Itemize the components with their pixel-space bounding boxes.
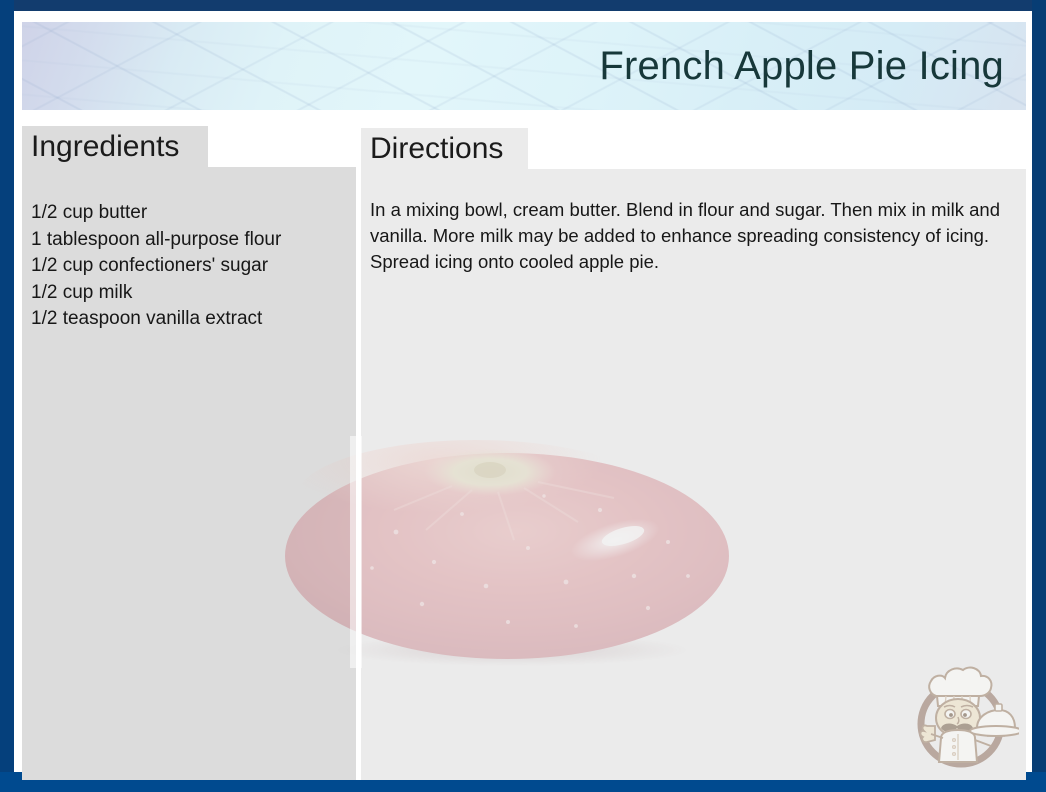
- slide-border-left: [0, 0, 14, 792]
- ingredients-heading: Ingredients: [31, 132, 179, 162]
- title-banner: French Apple Pie Icing: [22, 22, 1026, 110]
- ingredients-header: Ingredients: [22, 126, 208, 167]
- list-item: 1/2 cup confectioners' sugar: [31, 253, 356, 280]
- slide-border-right: [1032, 0, 1046, 792]
- ingredients-panel: Ingredients 1/2 cup butter 1 tablespoon …: [22, 126, 356, 780]
- list-item: 1/2 cup butter: [31, 200, 356, 227]
- directions-head-notch: [528, 128, 1026, 169]
- list-item: 1 tablespoon all-purpose flour: [31, 227, 356, 254]
- page-title: French Apple Pie Icing: [599, 46, 1004, 86]
- ingredients-head-notch: [208, 126, 356, 167]
- slide-border-top: [0, 0, 1046, 11]
- recipe-slide: French Apple Pie Icing: [0, 0, 1046, 792]
- directions-text: In a mixing bowl, cream butter. Blend in…: [361, 169, 1026, 275]
- panel-seam: [356, 126, 361, 780]
- ingredients-body: 1/2 cup butter 1 tablespoon all-purpose …: [22, 167, 356, 780]
- chef-logo: [903, 654, 1019, 774]
- list-item: 1/2 teaspoon vanilla extract: [31, 306, 356, 333]
- list-item: 1/2 cup milk: [31, 280, 356, 307]
- directions-header: Directions: [361, 128, 528, 169]
- directions-heading: Directions: [370, 134, 503, 164]
- ingredients-list: 1/2 cup butter 1 tablespoon all-purpose …: [22, 167, 356, 333]
